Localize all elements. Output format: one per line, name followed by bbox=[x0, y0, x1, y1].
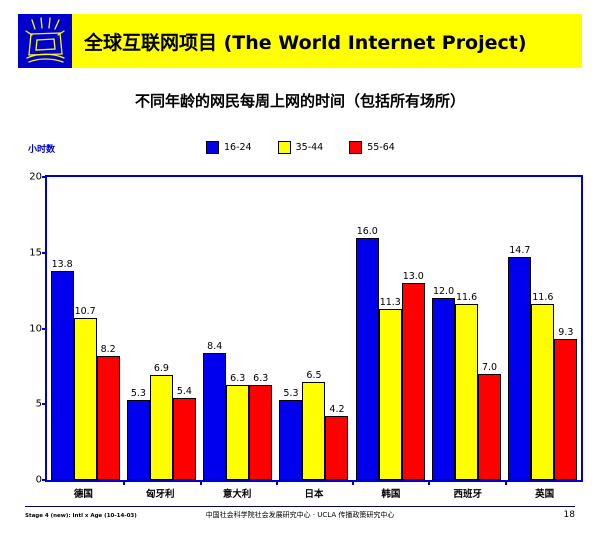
footer-left-text: Stage 4 (new): Intl x Age (10-14-03) bbox=[25, 513, 137, 519]
bar-series-layer: 13.810.78.25.36.95.48.46.36.35.36.54.216… bbox=[47, 177, 581, 480]
footer-center-text: 中国社会科学院社会发展研究中心 · UCLA 传播政策研究中心 bbox=[206, 510, 395, 520]
bar-slot: 13.0 bbox=[402, 177, 425, 480]
bar[interactable]: 5.4 bbox=[173, 398, 196, 480]
x-axis-label: 德国 bbox=[45, 486, 122, 500]
x-axis-label: 韩国 bbox=[352, 486, 429, 500]
x-axis-label: 日本 bbox=[276, 486, 353, 500]
bar[interactable]: 6.3 bbox=[249, 385, 272, 480]
chart-subtitle: 不同年龄的网民每周上网的时间（包括所有场所） bbox=[0, 90, 600, 111]
page-title: 全球互联网项目 (The World Internet Project) bbox=[84, 28, 527, 55]
x-tick-mark bbox=[123, 480, 125, 485]
legend-item: 35-44 bbox=[278, 141, 324, 154]
bar[interactable]: 16.0 bbox=[356, 238, 379, 480]
bar-value-label: 14.7 bbox=[509, 245, 530, 256]
bar-value-label: 5.3 bbox=[283, 388, 298, 399]
footer: Stage 4 (new): Intl x Age (10-14-03) 中国社… bbox=[25, 510, 575, 520]
legend-swatch-16-24 bbox=[206, 141, 219, 154]
bar-slot: 6.3 bbox=[226, 177, 249, 480]
bar[interactable]: 6.9 bbox=[150, 375, 173, 480]
bar-slot: 14.7 bbox=[508, 177, 531, 480]
x-axis-label: 西班牙 bbox=[429, 486, 506, 500]
bar[interactable]: 7.0 bbox=[478, 374, 501, 480]
x-tick-mark bbox=[505, 480, 507, 485]
bar-value-label: 6.5 bbox=[306, 370, 321, 381]
bar-group: 16.011.313.0 bbox=[352, 177, 428, 480]
bar[interactable]: 8.2 bbox=[97, 356, 120, 480]
bar-slot: 13.8 bbox=[51, 177, 74, 480]
x-axis-labels: 德国匈牙利意大利日本韩国西班牙英国 bbox=[45, 486, 583, 500]
bar-slot: 6.3 bbox=[249, 177, 272, 480]
chart-plot-area: 05101520 13.810.78.25.36.95.48.46.36.35.… bbox=[45, 175, 583, 482]
bar[interactable]: 12.0 bbox=[432, 298, 455, 480]
bar[interactable]: 11.6 bbox=[455, 304, 478, 480]
bar-group: 12.011.67.0 bbox=[428, 177, 504, 480]
y-tick-label: 10 bbox=[29, 323, 42, 334]
bar-slot: 10.7 bbox=[74, 177, 97, 480]
x-axis-label: 意大利 bbox=[199, 486, 276, 500]
bar-value-label: 12.0 bbox=[433, 286, 454, 297]
bar-value-label: 8.2 bbox=[101, 344, 116, 355]
bar-slot: 16.0 bbox=[356, 177, 379, 480]
bar-value-label: 11.6 bbox=[532, 292, 553, 303]
bar[interactable]: 5.3 bbox=[127, 400, 150, 480]
bar-value-label: 13.8 bbox=[52, 259, 73, 270]
bar-group: 13.810.78.2 bbox=[47, 177, 123, 480]
bar-value-label: 11.3 bbox=[380, 297, 401, 308]
x-axis-label: 匈牙利 bbox=[122, 486, 199, 500]
legend-label: 55-64 bbox=[367, 142, 395, 153]
y-tick-label: 20 bbox=[29, 172, 42, 183]
bar-slot: 5.3 bbox=[127, 177, 150, 480]
bar-value-label: 8.4 bbox=[207, 341, 222, 352]
bar[interactable]: 6.5 bbox=[302, 382, 325, 480]
x-tick-mark bbox=[352, 480, 354, 485]
bar-slot: 5.4 bbox=[173, 177, 196, 480]
x-axis-label: 英国 bbox=[506, 486, 583, 500]
chart-plot-inner: 05101520 13.810.78.25.36.95.48.46.36.35.… bbox=[47, 177, 581, 480]
y-tick-label: 15 bbox=[29, 247, 42, 258]
bar-slot: 8.2 bbox=[97, 177, 120, 480]
legend-swatch-55-64 bbox=[349, 141, 362, 154]
x-tick-mark bbox=[428, 480, 430, 485]
bar-value-label: 7.0 bbox=[482, 362, 497, 373]
world-internet-project-logo-icon bbox=[18, 14, 72, 68]
footer-page-number: 18 bbox=[564, 510, 575, 520]
bar-value-label: 11.6 bbox=[456, 292, 477, 303]
bar-slot: 7.0 bbox=[478, 177, 501, 480]
bar-slot: 11.6 bbox=[531, 177, 554, 480]
bar-slot: 8.4 bbox=[203, 177, 226, 480]
bar-group: 8.46.36.3 bbox=[200, 177, 276, 480]
bar-slot: 5.3 bbox=[279, 177, 302, 480]
bar-value-label: 9.3 bbox=[558, 327, 573, 338]
y-tick-label: 0 bbox=[36, 475, 42, 486]
bar-slot: 12.0 bbox=[432, 177, 455, 480]
x-tick-mark bbox=[200, 480, 202, 485]
bar[interactable]: 9.3 bbox=[554, 339, 577, 480]
bar-value-label: 5.3 bbox=[131, 388, 146, 399]
bar-slot: 4.2 bbox=[325, 177, 348, 480]
footer-divider bbox=[25, 506, 575, 507]
bar[interactable]: 13.8 bbox=[51, 271, 74, 480]
header-title-bar: 全球互联网项目 (The World Internet Project) bbox=[72, 14, 582, 68]
x-tick-mark bbox=[276, 480, 278, 485]
bar[interactable]: 14.7 bbox=[508, 257, 531, 480]
legend-label: 16-24 bbox=[224, 142, 252, 153]
bar-value-label: 5.4 bbox=[177, 386, 192, 397]
bar[interactable]: 11.3 bbox=[379, 309, 402, 480]
bar[interactable]: 5.3 bbox=[279, 400, 302, 480]
chart-legend: 16-2435-4455-64 bbox=[206, 141, 395, 154]
bar[interactable]: 8.4 bbox=[203, 353, 226, 480]
bar[interactable]: 4.2 bbox=[325, 416, 348, 480]
bar-value-label: 6.3 bbox=[253, 373, 268, 384]
legend-item: 55-64 bbox=[349, 141, 395, 154]
bar[interactable]: 13.0 bbox=[402, 283, 425, 480]
y-axis-caption: 小时数 bbox=[28, 142, 55, 155]
bar-value-label: 6.3 bbox=[230, 373, 245, 384]
bar-value-label: 16.0 bbox=[357, 226, 378, 237]
legend-swatch-35-44 bbox=[278, 141, 291, 154]
bar-group: 14.711.69.3 bbox=[505, 177, 581, 480]
bar-group: 5.36.54.2 bbox=[276, 177, 352, 480]
bar-slot: 11.3 bbox=[379, 177, 402, 480]
legend-item: 16-24 bbox=[206, 141, 252, 154]
bar-slot: 6.5 bbox=[302, 177, 325, 480]
bar[interactable]: 6.3 bbox=[226, 385, 249, 480]
bar-group: 5.36.95.4 bbox=[123, 177, 199, 480]
bar[interactable]: 11.6 bbox=[531, 304, 554, 480]
y-tick-label: 5 bbox=[36, 399, 42, 410]
bar[interactable]: 10.7 bbox=[74, 318, 97, 480]
bar-value-label: 6.9 bbox=[154, 363, 169, 374]
bar-value-label: 10.7 bbox=[75, 306, 96, 317]
bar-slot: 9.3 bbox=[554, 177, 577, 480]
bar-value-label: 13.0 bbox=[403, 271, 424, 282]
bar-slot: 6.9 bbox=[150, 177, 173, 480]
bar-value-label: 4.2 bbox=[329, 404, 344, 415]
bar-slot: 11.6 bbox=[455, 177, 478, 480]
header-banner: 全球互联网项目 (The World Internet Project) bbox=[18, 14, 582, 68]
legend-label: 35-44 bbox=[296, 142, 324, 153]
